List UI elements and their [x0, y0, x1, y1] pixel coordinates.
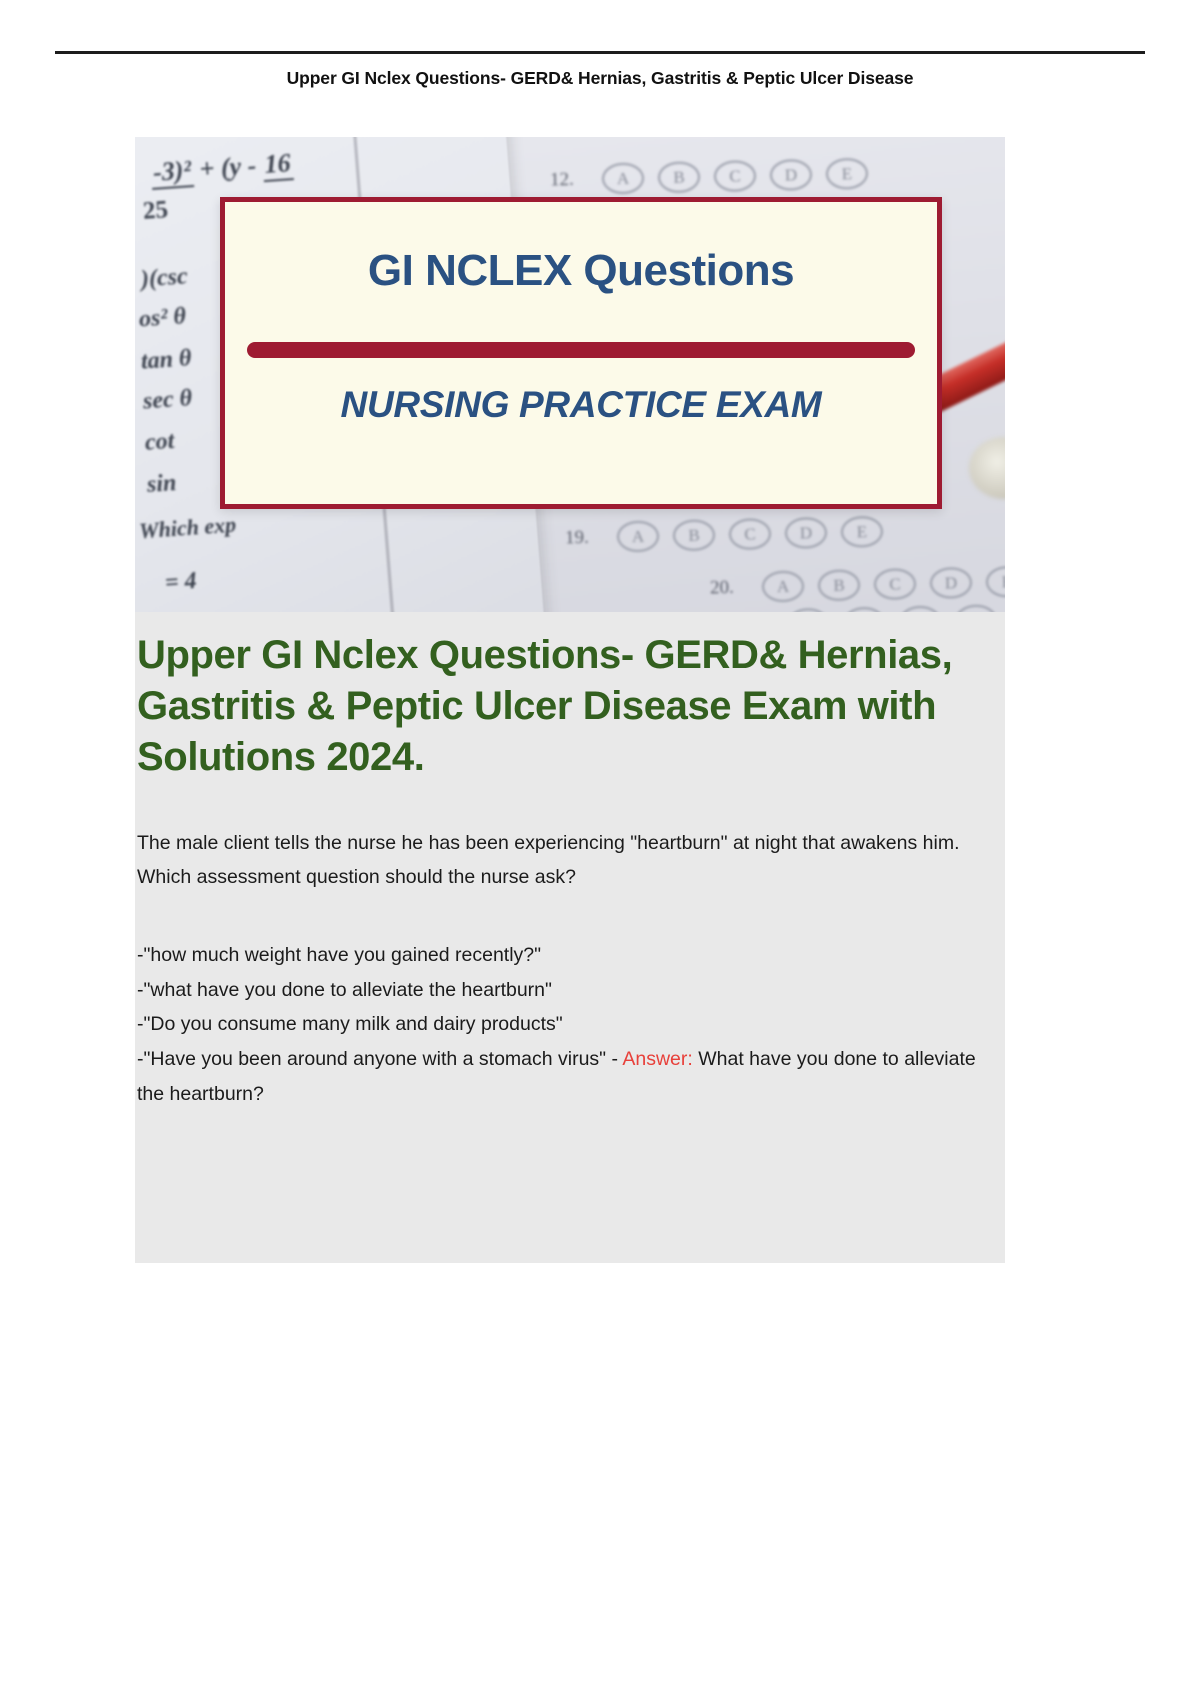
running-header-title: Upper GI Nclex Questions- GERD& Hernias,…: [0, 68, 1200, 89]
bubble-d: D: [785, 517, 828, 549]
bubble-a: A: [762, 571, 805, 603]
worksheet-line-5: cot: [144, 428, 175, 457]
list-item: -"how much weight have you gained recent…: [137, 938, 987, 973]
bubble-c: C: [874, 568, 917, 600]
question-paragraph: The male client tells the nurse he has b…: [137, 784, 999, 894]
fraction-plus: + (y -: [199, 151, 258, 184]
answer-options-list: -"how much weight have you gained recent…: [137, 894, 1003, 1112]
row-number: 19.: [565, 526, 617, 549]
answer-sheet-row-20: 20. A B C D E: [710, 566, 1005, 604]
bubble-c: C: [729, 518, 772, 550]
hero-title-card: GI NCLEX Questions NURSING PRACTICE EXAM: [220, 197, 942, 509]
worksheet-line-4: sec θ: [142, 385, 193, 415]
bubble-e: E: [826, 158, 869, 190]
bubble-d: D: [930, 567, 973, 599]
row-number: 20.: [710, 576, 762, 599]
article-body: Upper GI Nclex Questions- GERD& Hernias,…: [135, 612, 1005, 1111]
hero-card-divider: [247, 342, 915, 358]
bubble-c: C: [714, 160, 757, 192]
bubble-d: D: [770, 159, 813, 191]
list-item: -"Do you consume many milk and dairy pro…: [137, 1007, 987, 1042]
row-number: 12.: [550, 168, 602, 191]
bubble-d: D: [955, 604, 998, 612]
page-title: Upper GI Nclex Questions- GERD& Hernias,…: [137, 612, 1005, 784]
hero-card-subtitle: NURSING PRACTICE EXAM: [225, 384, 937, 426]
document-page: Upper GI Nclex Questions- GERD& Hernias,…: [0, 0, 1200, 1700]
answer-label: Answer:: [622, 1048, 692, 1070]
worksheet-line-1: )(csc: [140, 263, 188, 293]
worksheet-line-2: os² θ: [138, 303, 187, 333]
bubble-b: B: [818, 569, 861, 601]
bubble-b: B: [658, 161, 701, 193]
bubble-a: A: [617, 521, 660, 553]
worksheet-line-8: = 4: [164, 568, 197, 597]
list-item: -"what have you done to alleviate the he…: [137, 973, 987, 1008]
worksheet-line-0: 25: [142, 196, 169, 226]
hero-card-title: GI NCLEX Questions: [225, 246, 937, 296]
fraction-denominator: 16: [262, 148, 294, 182]
bubble-e: E: [841, 516, 884, 548]
hero-image: -3)² + (y - 16 25 )(csc os² θ tan θ sec …: [135, 137, 1005, 612]
option-text: -"Have you been around anyone with a sto…: [137, 1048, 622, 1070]
worksheet-line-6: sin: [146, 470, 177, 499]
content-block: -3)² + (y - 16 25 )(csc os² θ tan θ sec …: [135, 137, 1005, 1263]
bubble-e: E: [986, 566, 1005, 598]
worksheet-line-3: tan θ: [140, 345, 192, 375]
header-divider: [55, 51, 1145, 54]
list-item-with-answer: -"Have you been around anyone with a sto…: [137, 1042, 987, 1111]
fraction-numerator: -3)²: [150, 155, 194, 190]
bubble-a: A: [602, 163, 645, 195]
bubble-b: B: [673, 519, 716, 551]
